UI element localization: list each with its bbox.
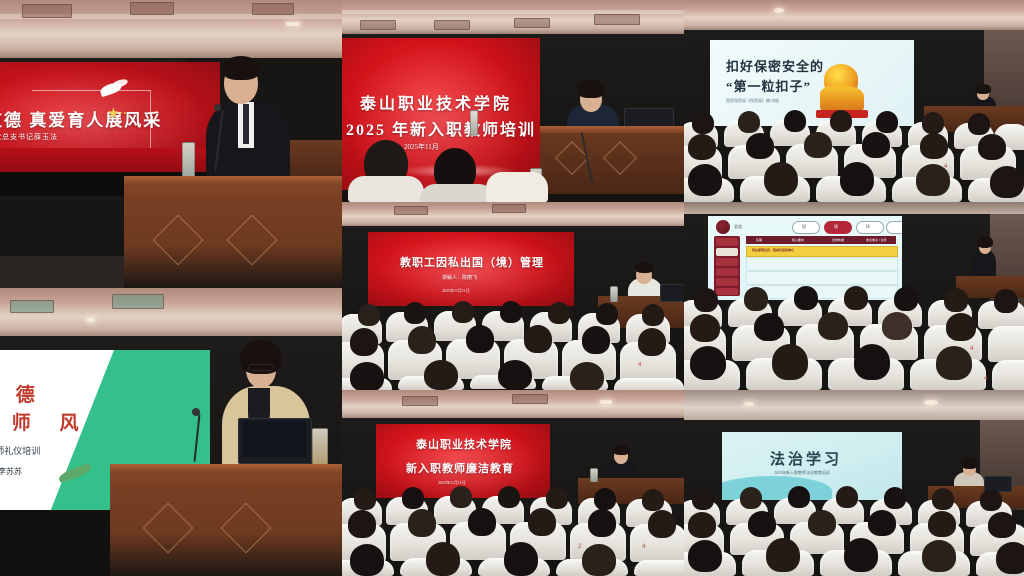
- ceiling-vent: [434, 20, 470, 30]
- panel-bottom-left-etiquette: 师 德 修 师 风 —— 教师礼仪培训 主讲人：李苏苏: [0, 288, 342, 576]
- audience-back: [348, 176, 424, 202]
- audience-block: 4 4: [684, 288, 1024, 390]
- slide-tab[interactable]: [886, 221, 902, 234]
- ceiling: [0, 288, 342, 340]
- audience-block: 4: [342, 298, 684, 390]
- speaker-hair: [975, 84, 991, 94]
- exit-entry-title: 教职工因私出国（境）管理: [400, 254, 544, 270]
- side-menu-item[interactable]: [716, 258, 738, 266]
- audience-block: 2 4: [342, 484, 684, 576]
- ceiling-light: [924, 400, 938, 405]
- audience-block: [684, 490, 1024, 576]
- training-date: 2025年11月: [404, 142, 439, 152]
- stage-headline: 明道德 真爱育人展风采: [0, 106, 162, 131]
- slide-tab-label: 境: [834, 224, 838, 230]
- slide-tab-label: 环: [866, 224, 870, 230]
- ceiling-vent: [112, 294, 164, 309]
- training-line1: 泰山职业技术学院: [360, 90, 512, 114]
- exit-entry-date: 2025年11月11日: [442, 288, 470, 294]
- ceiling-vent: [514, 18, 550, 28]
- table-header-cell: 任期: [756, 238, 762, 242]
- ceiling-light: [774, 8, 784, 13]
- ceiling-vent: [492, 204, 526, 213]
- exit-entry-screen: 教职工因私出国（境）管理 讲解人：陈丽飞 2025年11月11日: [368, 232, 574, 306]
- panel-bottom-center-integrity: 泰山职业技术学院 新入职教师廉洁教育 2025年11月11日: [342, 390, 684, 576]
- audience-back: [420, 184, 494, 202]
- slide-logo-icon: [716, 220, 730, 234]
- water-bottle: [470, 110, 478, 136]
- ceiling-vent: [594, 14, 640, 25]
- speaker-tie: [243, 104, 249, 144]
- speaker-hair: [577, 80, 605, 98]
- podium-top: [124, 176, 342, 186]
- ceiling-vent: [360, 20, 396, 30]
- table-row: [746, 271, 898, 285]
- training-line2: 2025 年新入职教师培训: [346, 116, 536, 140]
- thermos-bottle: [312, 428, 328, 468]
- panel-top-center-training-banner: 泰山职业技术学院 2025 年新入职教师培训 2025年11月: [342, 0, 684, 202]
- water-bottle: [590, 468, 598, 482]
- ceiling-light: [86, 318, 95, 322]
- side-menu-item[interactable]: [716, 248, 738, 256]
- microphone-head: [192, 408, 200, 416]
- slide-tab-overview[interactable]: 总览: [734, 224, 742, 230]
- panel-mid-center-exit-entry-slide: 教职工因私出国（境）管理 讲解人：陈丽飞 2025年11月11日: [342, 202, 684, 390]
- ceiling-vent: [512, 394, 548, 404]
- table-header-cell: 核心要求: [792, 238, 804, 242]
- side-menu-item[interactable]: [716, 278, 738, 286]
- ceiling-vent: [10, 300, 54, 313]
- etiquette-subtitle: —— 教师礼仪培训: [0, 444, 40, 457]
- panel-top-left-red-stage: 明道德 真爱育人展风采 ★·· 旅游系党总支书记薛玉法 二〇二五年十一月十日: [0, 0, 342, 288]
- ceiling-vent: [394, 206, 428, 215]
- law-title: 法治学习: [770, 448, 842, 469]
- ceiling-vent: [252, 3, 294, 15]
- speaker-hair: [222, 56, 260, 80]
- table-top: [540, 126, 684, 133]
- integrity-line1: 泰山职业技术学院: [416, 436, 512, 452]
- etiquette-line1: 师 德: [0, 380, 47, 407]
- photo-collage: 明道德 真爱育人展风采 ★·· 旅游系党总支书记薛玉法 二〇二五年十一月十日: [0, 0, 1024, 576]
- speaker-hair: [961, 458, 978, 469]
- table-highlight-text: 所在即我生存，我前们是有神心: [752, 248, 794, 252]
- laptop-screen: [242, 421, 306, 457]
- table-row: [746, 257, 898, 271]
- stage-subtitle: 旅游系党总支书记薛玉法: [0, 132, 58, 142]
- podium-top: [110, 464, 342, 474]
- podium: [110, 464, 342, 576]
- ceiling-vent: [130, 2, 174, 15]
- ceiling-light: [286, 22, 300, 26]
- table-header-cell: 法律依据: [832, 238, 844, 242]
- speaker-hair: [977, 236, 993, 248]
- slide-tab-active[interactable]: [824, 221, 852, 234]
- exit-entry-presenter: 讲解人：陈丽飞: [442, 274, 477, 281]
- integrity-line2: 新入职教师廉洁教育: [406, 460, 514, 476]
- ceiling-light: [600, 400, 612, 404]
- etiquette-line2: 修 师 风: [0, 408, 91, 435]
- audience-back: [486, 172, 548, 202]
- screen-rule-top: [32, 90, 150, 91]
- security-line1: 扣好保密安全的: [726, 56, 824, 75]
- ceiling-vent: [402, 396, 438, 406]
- table-header-cell: 重点重点 / 注意: [866, 238, 887, 242]
- slide-tab[interactable]: [856, 221, 884, 234]
- slide-tab-label: 切: [802, 224, 806, 230]
- panel-mid-right-table-slide: 总览 切 境 环 任期 核心要求 法律依据 重点重点 / 注意 所在即我生存，我…: [684, 202, 1024, 390]
- security-line2: “第一粒扣子”: [726, 76, 811, 95]
- ceiling: [684, 390, 1024, 422]
- lion-statue-image: [816, 58, 868, 118]
- security-subtitle: 国家保密局《保密观》编 讲座: [726, 98, 779, 104]
- speaker-hair: [635, 262, 654, 273]
- audience-block: 4: [684, 112, 1024, 202]
- ceiling: [684, 0, 1024, 32]
- glasses-icon: [248, 364, 274, 371]
- side-menu-item[interactable]: [716, 238, 738, 246]
- ceiling-vent: [22, 4, 72, 18]
- slide-tab[interactable]: [792, 221, 820, 234]
- speaker-hair: [613, 445, 630, 455]
- side-menu-item[interactable]: [716, 268, 738, 276]
- microphone-head: [214, 104, 221, 111]
- stage-stars: ★··: [108, 106, 127, 121]
- ceiling-light: [744, 402, 754, 406]
- law-subtitle: 2025年新入职教师法治教育培训: [774, 470, 830, 476]
- panel-bottom-right-rule-of-law: 法治学习 2025年新入职教师法治教育培训: [684, 390, 1024, 576]
- etiquette-presenter: 主讲人：李苏苏: [0, 466, 22, 477]
- panel-top-right-security-slide: 扣好保密安全的 “第一粒扣子” 国家保密局《保密观》编 讲座: [684, 0, 1024, 202]
